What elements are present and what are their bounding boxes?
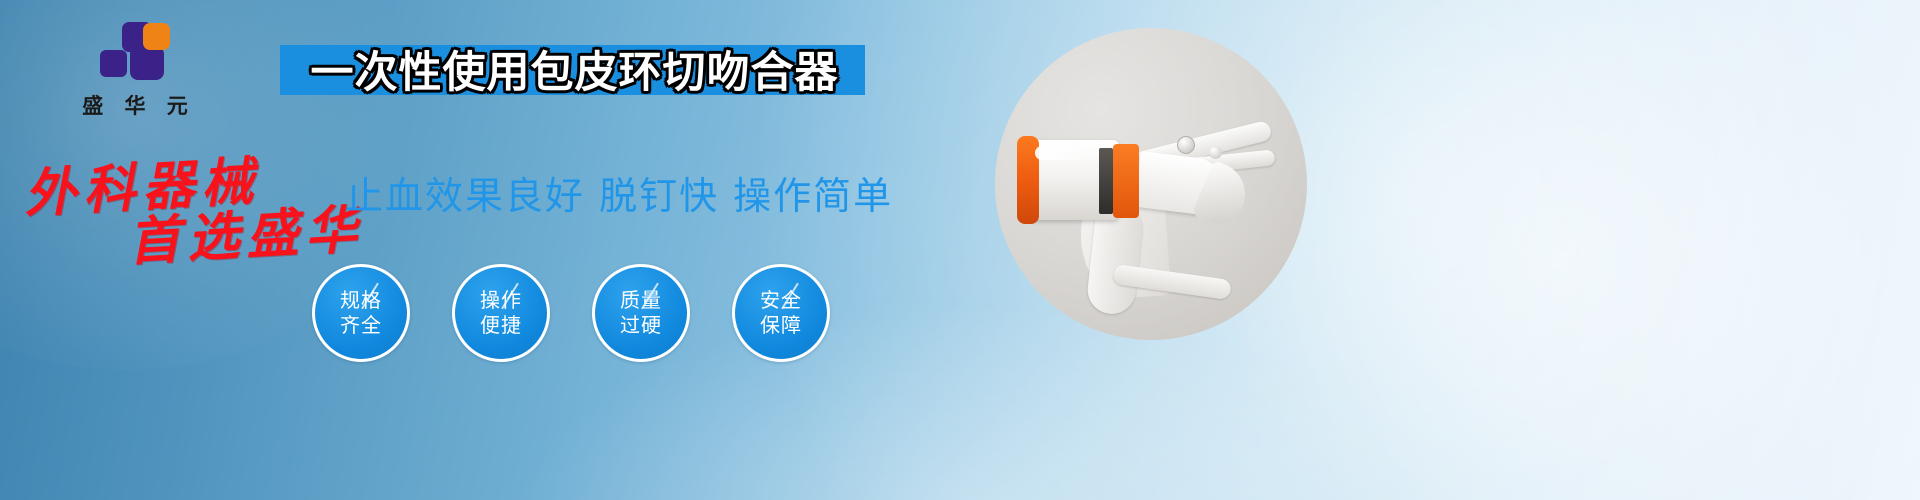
subtitle-text: 止血效果良好 脱钉快 操作简单 [345, 165, 893, 220]
feature-badge-safety[interactable]: 安全 保障 [732, 264, 830, 362]
page-title: 一次性使用包皮环切吻合器 [282, 40, 867, 98]
badge-label-line1: 安全 [760, 288, 802, 313]
badge-label-line1: 规格 [340, 288, 382, 313]
badge-label-line1: 操作 [480, 288, 522, 313]
feature-badge-quality[interactable]: 质量 过硬 [592, 264, 690, 362]
feature-badge-operation[interactable]: 操作 便捷 [452, 264, 550, 362]
badge-label-line2: 齐全 [340, 313, 382, 338]
device-orange-ring [1113, 144, 1139, 218]
badge-label-line2: 过硬 [620, 313, 662, 338]
product-photo [995, 28, 1307, 340]
promo-banner: 盛 华 元 一次性使用包皮环切吻合器 外科器械 首选盛华 止血效果良好 脱钉快 … [0, 0, 1920, 500]
calligraphy-line-2: 首选盛华 [126, 187, 366, 275]
shenghua-blocks-logo-icon [100, 22, 170, 84]
badge-label-line2: 保障 [760, 313, 802, 338]
brand-logo[interactable]: 盛 华 元 [70, 22, 200, 122]
device-pivot-joint-secondary [1209, 146, 1222, 159]
feature-badge-specifications[interactable]: 规格 齐全 [312, 264, 410, 362]
badge-label-line2: 便捷 [480, 313, 522, 338]
device-highlight [1035, 146, 1099, 160]
badge-label-line1: 质量 [620, 288, 662, 313]
device-pivot-joint [1177, 136, 1195, 154]
device-dark-ring [1099, 148, 1113, 214]
brand-name: 盛 华 元 [70, 90, 200, 120]
